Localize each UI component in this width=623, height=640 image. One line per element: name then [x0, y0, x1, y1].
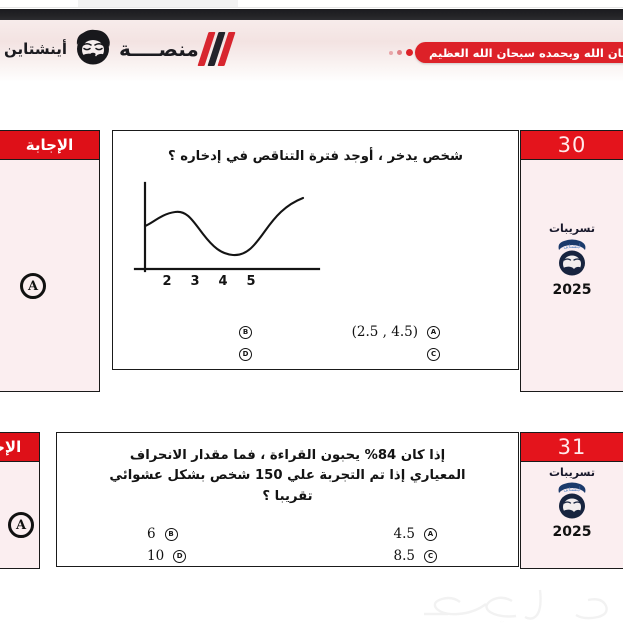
- question-body-30: شخص يدخر ، أوجد فترة التناقص في إدخاره ؟…: [112, 130, 519, 370]
- brand-subtitle: أينشتاين: [4, 40, 67, 58]
- ghost-tab: [78, 0, 238, 7]
- answer-body-30: A: [0, 160, 99, 391]
- svg-text:5: 5: [246, 274, 255, 289]
- zikr-dots-icon: [389, 49, 413, 56]
- answer-header-label: الإجابة: [26, 136, 73, 154]
- option-value-a: 4.5: [394, 526, 415, 542]
- option-bullet-c: C: [424, 550, 437, 563]
- option-value-a: (2.5 , 4.5): [352, 324, 418, 340]
- question-number-31: 31: [558, 435, 587, 459]
- svg-text:2: 2: [162, 274, 171, 289]
- option-D-31[interactable]: D 10: [147, 548, 186, 564]
- question-body-31: إذا كان 84% يحبون القراءة ، فما مقدار ال…: [56, 432, 519, 567]
- top-browser-strip: [0, 0, 623, 8]
- svg-text:أينشتاين: أينشتاين: [564, 486, 582, 493]
- answer-header-30: الإجابة: [0, 131, 99, 160]
- einstein-watermark-icon-30: أينشتاين: [553, 237, 591, 279]
- einstein-watermark-icon-31: أينشتاين: [553, 480, 591, 522]
- option-value-b: 6: [147, 526, 156, 542]
- answer-letter-31: A: [8, 512, 34, 538]
- page-root: منصــــة أينشتاين سبحان الله: [0, 0, 623, 640]
- answer-letter-30: A: [20, 273, 46, 299]
- answer-header-label-31: الإجابة: [0, 438, 21, 456]
- haraj-watermark: حراج: [390, 578, 615, 636]
- option-value-c: 8.5: [394, 548, 415, 564]
- option-value-d: 10: [147, 548, 164, 564]
- savings-graph-30: 2 3 4 5: [123, 179, 353, 298]
- svg-text:4: 4: [218, 274, 227, 289]
- meta-body-30: تسريبات أينشتاين 2025: [521, 160, 623, 391]
- option-C-30[interactable]: C: [418, 348, 440, 361]
- option-C-31[interactable]: C 8.5: [394, 548, 437, 564]
- options-31: B 6 A 4.5 D 10 C 8.5: [147, 523, 437, 567]
- option-bullet-d: D: [173, 550, 186, 563]
- answer-header-31: الإجابة: [0, 433, 39, 462]
- site-header: منصــــة أينشتاين سبحان الله: [0, 20, 623, 82]
- option-B-31[interactable]: B 6: [147, 526, 178, 542]
- meta-label-31: تسريبات: [549, 466, 595, 479]
- meta-panel-31: 31 تسريبات أينشتاين 2025: [520, 432, 623, 569]
- option-D-30[interactable]: D: [230, 348, 252, 361]
- option-bullet-b: B: [165, 528, 178, 541]
- question-text-30: شخص يدخر ، أوجد فترة التناقص في إدخاره ؟: [113, 147, 518, 167]
- question-number-30: 30: [558, 133, 587, 157]
- meta-year-31: 2025: [553, 524, 592, 540]
- option-B-30[interactable]: B: [230, 326, 252, 339]
- svg-text:3: 3: [190, 274, 199, 289]
- svg-text:أينشتاين: أينشتاين: [564, 243, 582, 250]
- option-bullet-d: D: [239, 348, 252, 361]
- einstein-face-icon: [71, 27, 115, 71]
- question-text-31-line1: إذا كان 84% يحبون القراءة ، فما مقدار ال…: [57, 446, 518, 466]
- question-text-31-line3: تقريبا ؟: [57, 487, 518, 507]
- meta-panel-30: 30 تسريبات أينشتاين 2025: [520, 130, 623, 392]
- brand-word: منصــــة: [119, 37, 199, 61]
- question-text-31-line2: المعياري إذا تم التجربة علي 150 شخص بشكل…: [57, 466, 518, 486]
- question-number-header-30: 30: [521, 131, 623, 160]
- answer-panel-30: الإجابة A: [0, 130, 100, 392]
- option-bullet-a: A: [424, 528, 437, 541]
- brand-logo[interactable]: منصــــة أينشتاين: [4, 27, 234, 71]
- answer-body-31: A: [0, 462, 39, 568]
- question-number-header-31: 31: [521, 433, 623, 462]
- top-dark-band: [0, 9, 623, 20]
- question-card-31: الإجابة A إذا كان 84% يحبون القراءة ، فم…: [0, 432, 623, 569]
- options-30: B A (2.5 , 4.5) D C: [230, 321, 440, 365]
- zikr-banner: سبحان الله وبحمده سبحان الله العظيم: [415, 42, 623, 63]
- zikr-text: سبحان الله وبحمده سبحان الله العظيم: [429, 46, 623, 60]
- meta-body-31: تسريبات أينشتاين 2025: [521, 462, 623, 568]
- option-A-30[interactable]: A (2.5 , 4.5): [352, 324, 440, 340]
- option-bullet-b: B: [239, 326, 252, 339]
- meta-year-30: 2025: [553, 282, 592, 298]
- meta-label-30: تسريبات: [549, 222, 595, 235]
- option-bullet-c: C: [427, 348, 440, 361]
- question-card-30: الإجابة A شخص يدخر ، أوجد فترة التناقص ف…: [0, 130, 623, 392]
- slashes-icon: [197, 32, 235, 66]
- option-bullet-a: A: [427, 326, 440, 339]
- watermark-text: حراج: [500, 620, 505, 623]
- option-A-31[interactable]: A 4.5: [394, 526, 437, 542]
- answer-panel-31: الإجابة A: [0, 432, 40, 569]
